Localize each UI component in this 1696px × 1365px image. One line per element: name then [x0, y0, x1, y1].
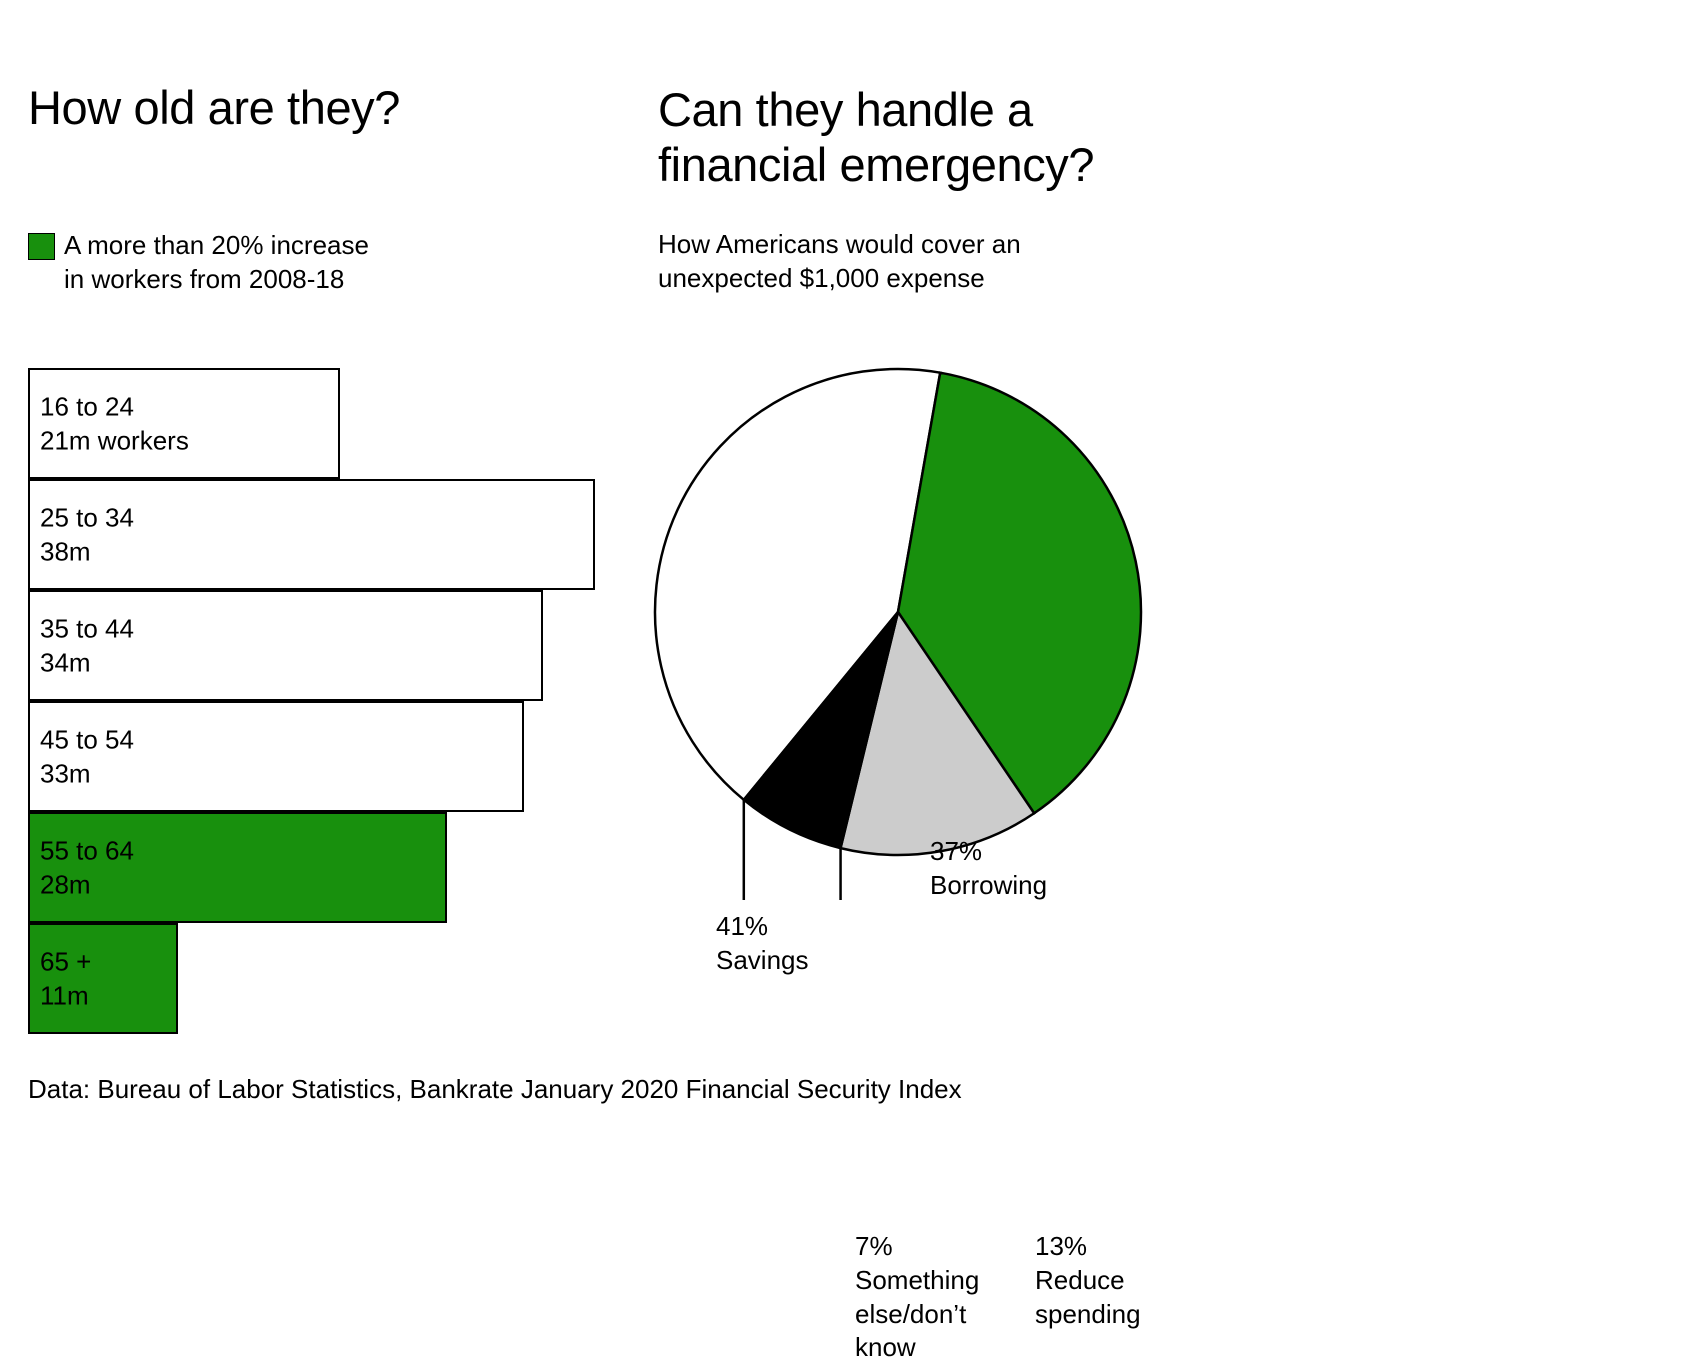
- bar-65-plus: [28, 923, 178, 1034]
- pie-chart: 41% Savings 37% Borrowing 7% Something e…: [650, 340, 1696, 900]
- legend-color-swatch: [28, 233, 55, 260]
- horizontal-bar-chart: 16 to 24 21m workers 25 to 34 38m 35 to …: [0, 368, 650, 1034]
- right-panel-title: Can they handle a financial emergency?: [658, 82, 1094, 193]
- financial-emergency-panel: Can they handle a financial emergency? H…: [650, 0, 1696, 1218]
- pie-label-reduce-spending: 13% Reduce spending: [1035, 1230, 1141, 1331]
- bar-row: 55 to 64 28m: [0, 812, 650, 923]
- bar-row: 45 to 54 33m: [0, 701, 650, 812]
- bar-row: 65 + 11m: [0, 923, 650, 1034]
- legend: A more than 20% increase in workers from…: [28, 228, 369, 297]
- age-breakdown-panel: How old are they? A more than 20% increa…: [0, 0, 650, 1218]
- legend-label: A more than 20% increase in workers from…: [64, 228, 369, 297]
- source-note: Data: Bureau of Labor Statistics, Bankra…: [28, 1074, 962, 1105]
- bar-55-to-64: [28, 812, 447, 923]
- left-panel-title: How old are they?: [28, 82, 400, 135]
- pie-label-something-else: 7% Something else/don’t know: [855, 1230, 979, 1365]
- bar-45-to-54: [28, 701, 524, 812]
- bar-16-to-24: [28, 368, 340, 479]
- bar-row: 25 to 34 38m: [0, 479, 650, 590]
- bar-row: 16 to 24 21m workers: [0, 368, 650, 479]
- right-panel-subtitle: How Americans would cover an unexpected …: [658, 227, 1021, 296]
- bar-35-to-44: [28, 590, 543, 701]
- bar-25-to-34: [28, 479, 595, 590]
- bar-row: 35 to 44 34m: [0, 590, 650, 701]
